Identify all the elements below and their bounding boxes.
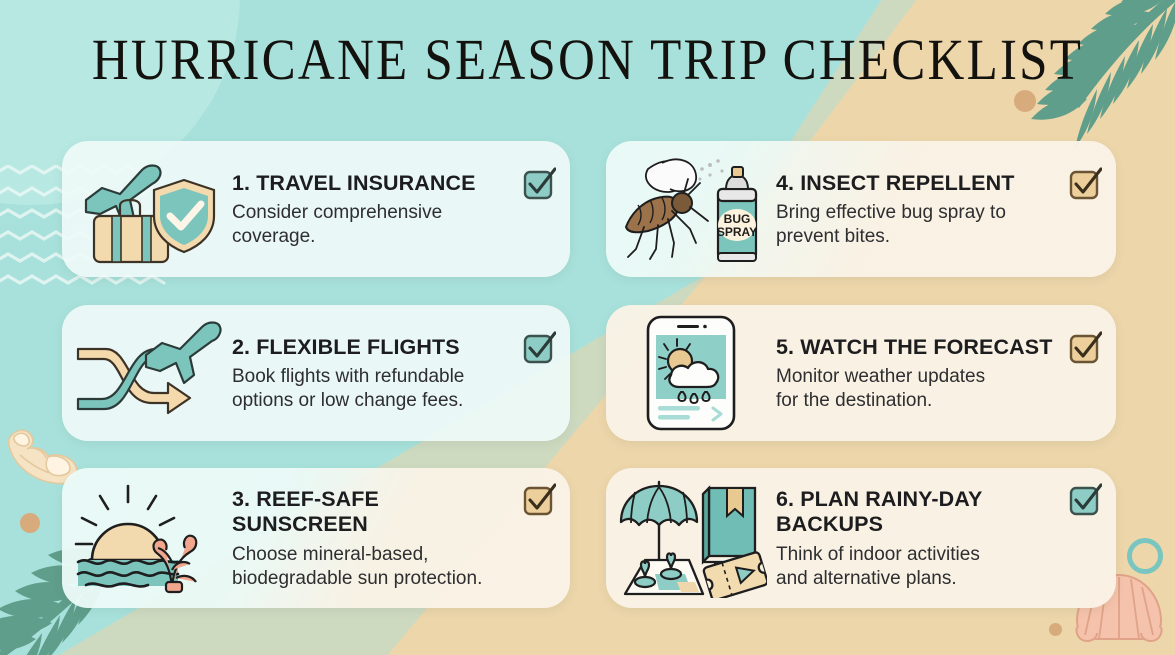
card-5-icon-area	[606, 305, 776, 441]
tan-dot-bottom-right	[1049, 623, 1062, 636]
mosquito-bug-spray-icon: BUG SPRAY	[614, 153, 769, 265]
tan-dot-left	[20, 513, 40, 533]
card-3-checkbox[interactable]	[522, 483, 556, 517]
phone-weather-forecast-icon	[643, 313, 739, 433]
checkbox-checked-icon	[522, 331, 556, 365]
sun-sea-coral-icon	[72, 482, 222, 594]
card-6-icon-area	[606, 468, 776, 608]
page-title: HURRICANE SEASON TRIP CHECKLIST	[71, 26, 1105, 93]
card-5-body: 5. WATCH THE FORECAST Monitor weather up…	[776, 333, 1116, 414]
card-6-title: 6. PLAN RAINY-DAY BACKUPS	[776, 487, 1060, 538]
card-4-body: 4. INSECT REPELLENT Bring effective bug …	[776, 169, 1116, 250]
card-3-body: 3. REEF-SAFE SUNSCREEN Choose mineral-ba…	[232, 485, 570, 591]
checkbox-checked-icon	[1068, 167, 1102, 201]
card-5-description: Monitor weather updates for the destinat…	[776, 365, 1060, 414]
tan-dot-top-right	[1014, 90, 1036, 112]
card-5-title: 5. WATCH THE FORECAST	[776, 335, 1060, 360]
card-5-checkbox[interactable]	[1068, 331, 1102, 365]
card-4-title: 4. INSECT REPELLENT	[776, 171, 1060, 196]
card-6-checkbox[interactable]	[1068, 483, 1102, 517]
checklist-card-2[interactable]: 2. FLEXIBLE FLIGHTS Book flights with re…	[62, 305, 570, 441]
card-1-title: 1. TRAVEL INSURANCE	[232, 171, 514, 196]
card-3-description: Choose mineral-based, biodegradable sun …	[232, 543, 514, 592]
card-3-title: 3. REEF-SAFE SUNSCREEN	[232, 487, 514, 538]
checkbox-checked-icon	[1068, 331, 1102, 365]
bug-spray-label-line1: BUG	[723, 212, 750, 226]
card-2-checkbox[interactable]	[522, 331, 556, 365]
card-4-icon-area: BUG SPRAY	[606, 141, 776, 277]
card-6-description: Think of indoor activities and alternati…	[776, 543, 1060, 592]
card-3-icon-area	[62, 468, 232, 608]
checklist-card-1[interactable]: 1. TRAVEL INSURANCE Consider comprehensi…	[62, 141, 570, 277]
umbrella-book-boardgame-ticket-icon	[615, 478, 767, 598]
card-2-icon-area	[62, 305, 232, 441]
card-1-description: Consider comprehensive coverage.	[232, 201, 514, 250]
plane-suitcase-shield-icon	[72, 154, 222, 264]
checklist-card-3[interactable]: 3. REEF-SAFE SUNSCREEN Choose mineral-ba…	[62, 468, 570, 608]
card-4-checkbox[interactable]	[1068, 167, 1102, 201]
card-2-body: 2. FLEXIBLE FLIGHTS Book flights with re…	[232, 333, 570, 414]
card-4-description: Bring effective bug spray to prevent bit…	[776, 201, 1060, 250]
checkbox-checked-icon	[522, 167, 556, 201]
checklist-card-4[interactable]: BUG SPRAY 4. INSECT REPELLENT Bring effe…	[606, 141, 1116, 277]
card-1-checkbox[interactable]	[522, 167, 556, 201]
card-6-body: 6. PLAN RAINY-DAY BACKUPS Think of indoo…	[776, 485, 1116, 591]
checklist-card-6[interactable]: 6. PLAN RAINY-DAY BACKUPS Think of indoo…	[606, 468, 1116, 608]
checkbox-checked-icon	[522, 483, 556, 517]
teal-ring-decor	[1127, 538, 1163, 574]
card-2-description: Book flights with refundable options or …	[232, 365, 514, 414]
card-1-icon-area	[62, 141, 232, 277]
crossing-arrows-plane-icon	[72, 321, 222, 425]
checklist-card-5[interactable]: 5. WATCH THE FORECAST Monitor weather up…	[606, 305, 1116, 441]
card-2-title: 2. FLEXIBLE FLIGHTS	[232, 335, 514, 360]
card-1-body: 1. TRAVEL INSURANCE Consider comprehensi…	[232, 169, 570, 250]
checkbox-checked-icon	[1068, 483, 1102, 517]
infographic-canvas: HURRICANE SEASON TRIP CHECKLIST 1. TRAVE…	[0, 0, 1175, 655]
bug-spray-label-line2: SPRAY	[716, 225, 756, 239]
